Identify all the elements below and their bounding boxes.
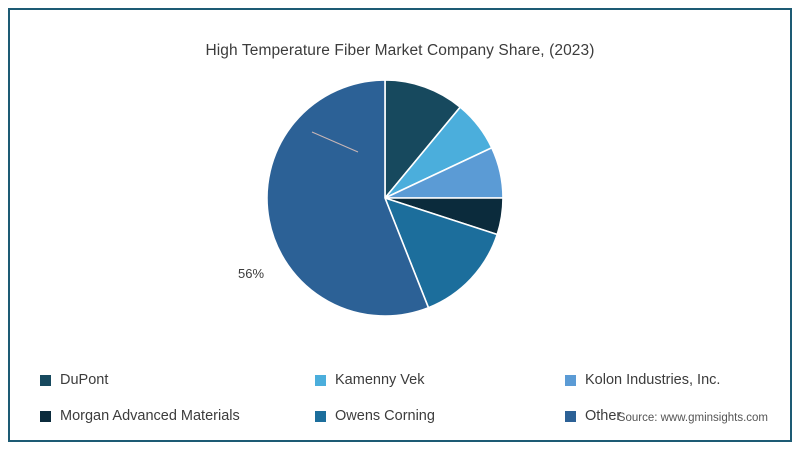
legend-swatch-icon [315,375,326,386]
pie-chart [250,70,550,330]
legend-item-kamenny-vek[interactable]: Kamenny Vek [315,372,565,388]
slice-percentage-label: 56% [238,266,264,281]
legend-swatch-icon [315,411,326,422]
source-attribution: Source: www.gminsights.com [618,412,768,424]
legend-swatch-icon [565,375,576,386]
legend-item-kolon-industries[interactable]: Kolon Industries, Inc. [565,372,770,388]
pie-chart-area: 56% [10,70,790,345]
page-title: High Temperature Fiber Market Company Sh… [10,42,790,60]
legend-item-morgan-advanced-materials[interactable]: Morgan Advanced Materials [40,408,315,424]
legend-swatch-icon [40,375,51,386]
legend-swatch-icon [565,411,576,422]
legend-item-owens-corning[interactable]: Owens Corning [315,408,565,424]
legend-item-label: Kamenny Vek [335,372,424,388]
legend-item-label: Morgan Advanced Materials [60,408,240,424]
chart-frame: High Temperature Fiber Market Company Sh… [8,8,792,442]
legend-item-label: Kolon Industries, Inc. [585,372,720,388]
legend-item-label: Owens Corning [335,408,435,424]
legend-item-dupont[interactable]: DuPont [40,372,315,388]
legend-item-label: Other [585,408,621,424]
legend-swatch-icon [40,411,51,422]
legend-item-label: DuPont [60,372,108,388]
pie-slice-group [267,80,503,316]
